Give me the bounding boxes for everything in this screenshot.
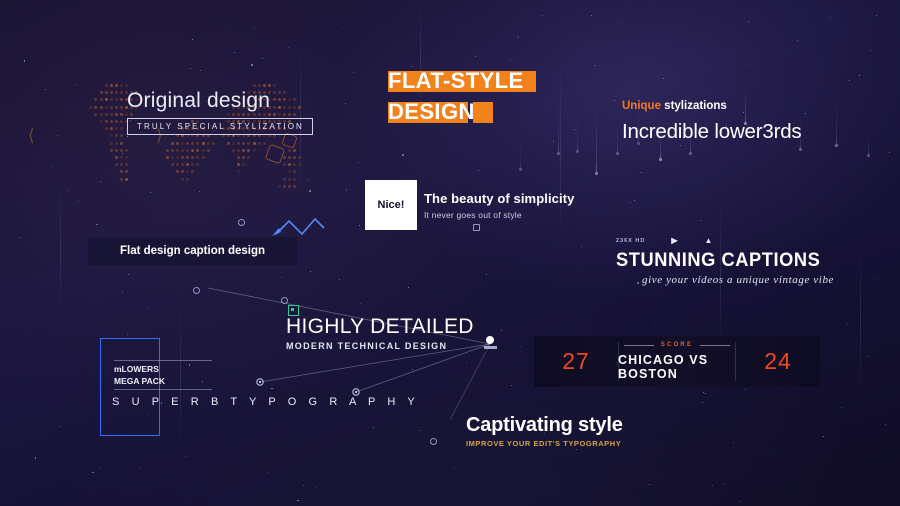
- scoreboard-label-row: SCORE: [624, 342, 730, 348]
- marker-dot-icon: [193, 287, 200, 294]
- original-design-block: Original design TRULY SPECIAL STYLIZATIO…: [127, 90, 313, 135]
- superb-typography-headline: S U P E R B T Y P O G R A P H Y: [112, 396, 419, 408]
- marker-dot-icon: [238, 219, 245, 226]
- left-bracket-icon: ⟨: [28, 126, 35, 146]
- captivating-style-block: Captivating style IMPROVE YOUR EDIT'S TY…: [466, 415, 623, 448]
- divider-line: [114, 360, 212, 361]
- flat-style-line2: DESIGN: [388, 99, 524, 125]
- highly-detailed-headline: HIGHLY DETAILED: [286, 316, 474, 337]
- stunning-captions-subline: give your videos a unique vintage vibe: [642, 274, 834, 286]
- stunning-captions-meta: 236X HD ▶ ▲: [616, 236, 834, 245]
- flat-style-line2-row: DESIGN: [388, 99, 524, 125]
- flat-caption-box: Flat design caption design: [88, 237, 297, 265]
- flat-caption-label: Flat design caption design: [120, 245, 265, 257]
- flat-style-line1-row: FLAT-STYLE: [388, 68, 524, 94]
- mlowers-pack-block: mLOWERS MEGA PACK: [114, 363, 165, 387]
- original-design-subtitle: TRULY SPECIAL STYLIZATION: [127, 118, 313, 135]
- scoreboard-panel: 27 SCORE CHICAGO VS BOSTON 24: [534, 336, 820, 387]
- rule-left: [624, 345, 654, 346]
- stunning-captions-headline: STUNNING CAPTIONS: [616, 250, 825, 272]
- captivating-headline: Captivating style: [466, 415, 623, 435]
- mlowers-line1: mLOWERS: [114, 363, 165, 375]
- away-score-value: 24: [764, 348, 792, 375]
- flat-style-line1: FLAT-STYLE: [388, 68, 524, 94]
- play-icon: ▶: [671, 236, 678, 245]
- scoreboard-away-score: 24: [736, 336, 820, 387]
- highly-detailed-subline: MODERN TECHNICAL DESIGN: [286, 341, 474, 351]
- flat-style-title-block: FLAT-STYLE DESIGN: [388, 68, 524, 130]
- simplicity-headline: The beauty of simplicity: [424, 191, 574, 206]
- triangle-up-icon: ▲: [704, 236, 713, 245]
- lower-thirds-kicker: Unique stylizations: [622, 100, 801, 113]
- lower-thirds-block: Unique stylizations Incredible lower3rds: [622, 100, 801, 144]
- captivating-subline: IMPROVE YOUR EDIT'S TYPOGRAPHY: [466, 439, 623, 448]
- scoreboard-home-score: 27: [534, 336, 618, 387]
- mlowers-line2: MEGA PACK: [114, 375, 165, 387]
- blue-frame-graphic: [100, 338, 160, 436]
- resolution-code-label: 236X HD: [616, 238, 645, 244]
- scoreboard-center: SCORE CHICAGO VS BOSTON: [618, 336, 736, 387]
- marker-dot-icon: [281, 297, 288, 304]
- nice-badge: Nice!: [365, 180, 417, 230]
- marker-dot-icon: [430, 438, 437, 445]
- home-score-value: 27: [562, 348, 590, 375]
- lower-thirds-headline: Incredible lower3rds: [622, 120, 801, 144]
- lower-thirds-kicker-accent: Unique: [622, 100, 661, 112]
- scoreboard-label: SCORE: [661, 342, 693, 348]
- zigzag-chevron-icon: [272, 208, 332, 240]
- showcase-canvas: ⟨ ⟩ Original design TRULY SPECIAL STYLIZ…: [0, 0, 900, 506]
- simplicity-block: The beauty of simplicity It never goes o…: [424, 191, 574, 220]
- rule-right: [700, 345, 730, 346]
- scoreboard-teams: CHICAGO VS BOSTON: [618, 353, 736, 381]
- original-design-title: Original design: [127, 90, 313, 111]
- marker-dot-icon: [473, 224, 480, 231]
- highly-detailed-block: HIGHLY DETAILED MODERN TECHNICAL DESIGN: [286, 316, 474, 351]
- divider-line: [114, 389, 212, 390]
- stunning-captions-block: 236X HD ▶ ▲ STUNNING CAPTIONS give your …: [616, 236, 834, 286]
- simplicity-subline: It never goes out of style: [424, 210, 574, 220]
- lower-thirds-kicker-rest: stylizations: [661, 100, 727, 112]
- nice-badge-label: Nice!: [378, 199, 405, 211]
